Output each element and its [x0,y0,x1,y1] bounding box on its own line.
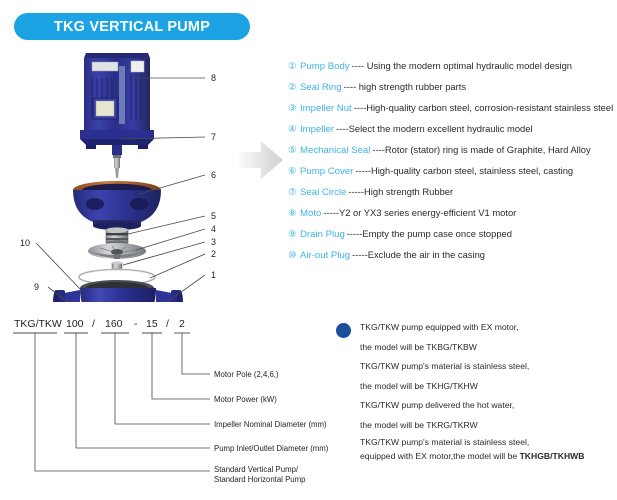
legend-number: ① [288,61,300,72]
legend-number: ⑨ [288,229,300,240]
legend-item: ① Pump Body ---- Using the modern optima… [288,60,613,81]
pump-exploded-diagram: 8 7 6 5 4 3 2 1 10 9 [0,44,240,302]
code-separator-2: - [134,318,138,330]
callout-motor-pole: Motor Pole (2,4,6,) [214,370,279,379]
callout-1: 1 [211,270,216,280]
legend-number: ⑩ [288,250,300,261]
pump-body-casing [53,280,183,302]
pump-cover [73,181,161,230]
legend-item: ③ Impeller Nut ----High-quality carbon s… [288,102,613,123]
legend-item: ⑥ Pump Cover -----High-quality carbon st… [288,165,613,186]
callout-standard-line-2: Standard Horizontal Pump [214,475,306,484]
legend-number: ⑧ [288,208,300,219]
legend-item: ⑩ Air-out Plug -----Exclude the air in t… [288,249,613,270]
variant-note: TKG/TKW pump's material is stainless ste… [360,357,614,377]
legend-part-name: Pump Body [300,61,350,72]
legend-description: -----Empty the pump case once stopped [347,228,512,239]
pump-shaft [112,145,122,178]
legend-number: ④ [288,124,300,135]
code-series: TKG/TKW [14,318,62,330]
variant-note: TKG/TKW pump's material is stainless ste… [360,435,614,449]
callout-9: 9 [34,282,39,292]
code-impeller: 160 [105,318,123,330]
legend-description: -----High-quality carbon steel, stainles… [355,165,573,176]
bullet-point-icon [336,323,351,338]
code-inlet: 100 [66,318,84,330]
variant-note-model: TKHGB/TKHWB [520,451,585,461]
legend-description: ----Rotor (stator) ring is made of Graph… [372,144,590,155]
legend-item: ⑦ Seal Circle -----High strength Rubber [288,186,613,207]
callout-impeller-dia: Impeller Nominal Diameter (mm) [214,420,327,429]
page-title-banner: TKG VERTICAL PUMP [14,13,250,40]
legend-description: ---- high strength rubber parts [344,81,466,92]
legend-part-name: Seal Circle [300,187,346,198]
legend-description: ---- Using the modern optimal hydraulic … [352,60,572,71]
code-poles: 2 [179,318,185,330]
legend-description: -----High strength Rubber [348,186,453,197]
variant-note-final: equipped with EX motor,the model will be… [360,449,614,463]
legend-number: ⑤ [288,145,300,156]
variant-note: the model will be TKHG/TKHW [360,377,614,397]
legend-item: ② Seal Ring ---- high strength rubber pa… [288,81,613,102]
flow-arrow-icon [235,134,287,186]
callout-standard-line-1: Standard Vertical Pump/ [214,465,299,474]
model-variant-notes: TKG/TKW pump equipped with EX motor, the… [336,318,614,463]
impeller-nut [112,261,122,268]
variant-note: TKG/TKW pump equipped with EX motor, [360,318,614,338]
legend-part-name: Impeller [300,124,334,135]
variant-note: TKG/TKW pump delivered the hot water, [360,396,614,416]
mechanical-seal [106,227,128,245]
legend-description: ----Select the modern excellent hydrauli… [336,123,532,134]
model-code-breakdown: TKG/TKW 100 / 160 - 15 / 2 [0,310,340,495]
legend-number: ② [288,82,300,93]
callout-4: 4 [211,224,216,234]
legend-description: -----Y2 or YX3 series energy-efficient V… [323,207,516,218]
legend-part-name: Air-out Plug [300,250,350,261]
code-separator-1: / [92,318,95,330]
callout-3: 3 [211,237,216,247]
legend-description: ----High-quality carbon steel, corrosion… [354,102,613,113]
legend-part-name: Seal Ring [300,82,342,93]
motor-assembly [80,53,154,149]
legend-description: -----Exclude the air in the casing [352,249,485,260]
variant-note-text: equipped with EX motor,the model will be [360,451,520,461]
variant-note: the model will be TKBG/TKBW [360,338,614,358]
callout-8: 8 [211,73,216,83]
callout-7: 7 [211,132,216,142]
legend-item: ⑧ Moto -----Y2 or YX3 series energy-effi… [288,207,613,228]
legend-item: ⑨ Drain Plug -----Empty the pump case on… [288,228,613,249]
legend-part-name: Pump Cover [300,166,353,177]
callout-motor-power: Motor Power (kW) [214,395,277,404]
legend-item: ④ Impeller ----Select the modern excelle… [288,123,613,144]
legend-item: ⑤ Mechanical Seal ----Rotor (stator) rin… [288,144,613,165]
legend-number: ③ [288,103,300,114]
legend-part-name: Drain Plug [300,229,345,240]
callout-5: 5 [211,211,216,221]
legend-part-name: Mechanical Seal [300,145,370,156]
impeller [88,243,146,259]
legend-part-name: Impeller Nut [300,103,352,114]
variant-note: the model will be TKRG/TKRW [360,416,614,436]
callout-inlet-dia: Pump Inlet/Outlet Diameter (mm) [214,444,329,453]
code-separator-3: / [166,318,169,330]
code-power: 15 [146,318,158,330]
legend-number: ⑥ [288,166,300,177]
callout-2: 2 [211,249,216,259]
callout-6: 6 [211,170,216,180]
callout-10: 10 [20,238,30,248]
parts-legend-list: ① Pump Body ---- Using the modern optima… [288,60,613,270]
legend-number: ⑦ [288,187,300,198]
legend-part-name: Moto [300,208,321,219]
page-title: TKG VERTICAL PUMP [54,19,210,35]
